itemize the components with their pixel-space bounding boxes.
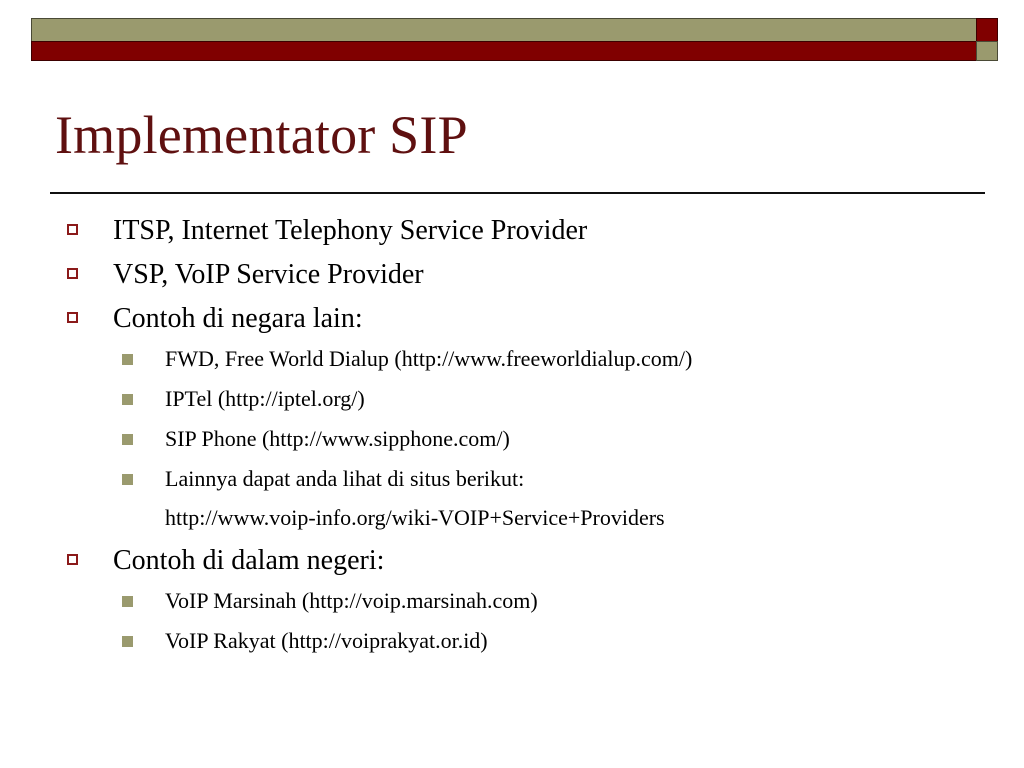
- bullet-item-level1: ITSP, Internet Telephony Service Provide…: [0, 210, 1024, 251]
- title-underline-rule: [50, 192, 985, 194]
- header-cap-olive: [976, 41, 998, 61]
- bullet-text: Lainnya dapat anda lihat di situs beriku…: [165, 466, 524, 491]
- bullet-item-level2: FWD, Free World Dialup (http://www.freew…: [0, 339, 1024, 379]
- header-decoration-bar: [31, 18, 998, 61]
- filled-square-bullet: [122, 596, 133, 607]
- hollow-square-bullet: [67, 312, 78, 323]
- bullet-text: VSP, VoIP Service Provider: [113, 259, 424, 290]
- bullet-text: VoIP Marsinah (http://voip.marsinah.com): [165, 588, 538, 613]
- bullet-item-level2: VoIP Marsinah (http://voip.marsinah.com): [0, 581, 1024, 621]
- bullet-text: FWD, Free World Dialup (http://www.freew…: [165, 346, 692, 371]
- bullet-text: IPTel (http://iptel.org/): [165, 386, 365, 411]
- bullet-text: VoIP Rakyat (http://voiprakyat.or.id): [165, 628, 488, 653]
- bullet-continuation-url: http://www.voip-info.org/wiki-VOIP+Servi…: [165, 498, 1024, 537]
- bullet-item-level1: Contoh di dalam negeri:: [0, 540, 1024, 581]
- header-band-olive: [31, 18, 998, 41]
- slide-title: Implementator SIP: [55, 106, 468, 165]
- hollow-square-bullet: [67, 554, 78, 565]
- bullet-item-level2: IPTel (http://iptel.org/): [0, 379, 1024, 419]
- bullet-text: ITSP, Internet Telephony Service Provide…: [113, 215, 587, 246]
- bullet-text: Contoh di dalam negeri:: [113, 545, 384, 576]
- bullet-text: SIP Phone (http://www.sipphone.com/): [165, 426, 510, 451]
- bullet-item-level2: Lainnya dapat anda lihat di situs beriku…: [0, 459, 1024, 537]
- slide-body: ITSP, Internet Telephony Service Provide…: [0, 210, 1024, 661]
- filled-square-bullet: [122, 394, 133, 405]
- bullet-item-level1: Contoh di negara lain:: [0, 298, 1024, 339]
- bullet-item-level1: VSP, VoIP Service Provider: [0, 254, 1024, 295]
- header-cap-red: [976, 18, 998, 41]
- filled-square-bullet: [122, 354, 133, 365]
- filled-square-bullet: [122, 434, 133, 445]
- bullet-item-level2: VoIP Rakyat (http://voiprakyat.or.id): [0, 621, 1024, 661]
- bullet-item-level2: SIP Phone (http://www.sipphone.com/): [0, 419, 1024, 459]
- filled-square-bullet: [122, 636, 133, 647]
- hollow-square-bullet: [67, 224, 78, 235]
- filled-square-bullet: [122, 474, 133, 485]
- bullet-text: Contoh di negara lain:: [113, 303, 363, 334]
- hollow-square-bullet: [67, 268, 78, 279]
- header-band-red: [31, 41, 998, 61]
